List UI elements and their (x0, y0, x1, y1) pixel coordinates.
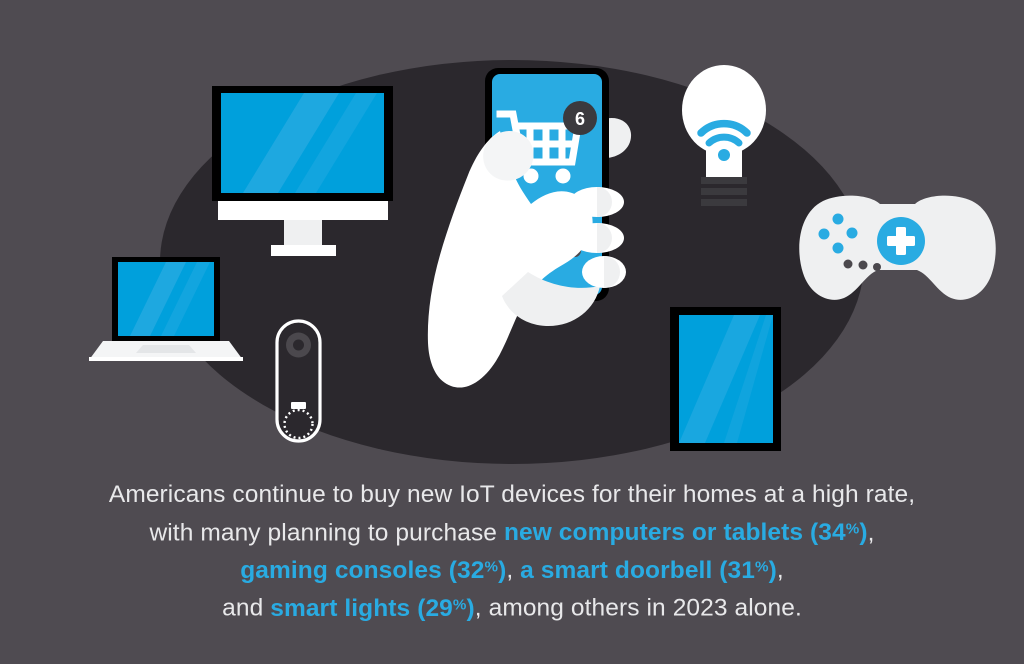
tablet (670, 307, 781, 451)
caption-line-4-post: , among others in 2023 alone. (475, 595, 802, 622)
caption-line-1: Americans continue to buy new IoT device… (0, 478, 1024, 513)
stat-smart-doorbell-text: a smart doorbell (31 (520, 557, 755, 584)
monitor-base (271, 245, 336, 256)
iot-devices-illustration: 6 BUY (0, 0, 1024, 470)
caption-line-2: with many planning to purchase new compu… (0, 513, 1024, 551)
stat-smart-doorbell: a smart doorbell (31%) (520, 557, 777, 584)
caption-line-3-mid: , (506, 557, 520, 584)
caption-line-3-post: , (777, 557, 784, 584)
infographic-canvas: 6 BUY Americans continue to buy new IoT … (0, 0, 1024, 664)
cart-badge-count: 6 (575, 109, 585, 129)
monitor-neck (284, 220, 322, 245)
stat-gaming-consoles-pct: % (484, 558, 498, 575)
stat-smart-lights: smart lights (29%) (270, 595, 475, 622)
caption-line-2-post: , (868, 519, 875, 546)
stat-computers-tablets-tail: ) (859, 519, 867, 546)
bulb-base (701, 177, 747, 184)
stat-gaming-consoles-text: gaming consoles (32 (240, 557, 484, 584)
laptop-trackpad (136, 345, 196, 353)
doorbell-indicator (291, 402, 306, 409)
stat-smart-doorbell-pct: % (755, 558, 769, 575)
game-controller (799, 196, 995, 300)
stat-smart-lights-tail: ) (467, 595, 475, 622)
smart-doorbell (277, 321, 320, 441)
stat-computers-tablets-pct: % (846, 521, 860, 538)
stat-smart-doorbell-tail: ) (769, 557, 777, 584)
caption-line-1-text: Americans continue to buy new IoT device… (109, 481, 915, 508)
stat-gaming-consoles: gaming consoles (32%) (240, 557, 506, 584)
cart-wheel (556, 169, 571, 184)
caption-line-2-pre: with many planning to purchase (149, 519, 503, 546)
monitor-chin (218, 201, 388, 220)
stat-computers-tablets-text: new computers or tablets (34 (504, 519, 846, 546)
stat-smart-lights-text: smart lights (29 (270, 595, 453, 622)
caption-line-4-pre: and (222, 595, 270, 622)
stat-smart-lights-pct: % (453, 596, 467, 613)
caption-line-4: and smart lights (29%), among others in … (0, 588, 1024, 626)
caption-line-3: gaming consoles (32%), a smart doorbell … (0, 550, 1024, 588)
stat-computers-tablets: new computers or tablets (34%) (504, 519, 868, 546)
caption-text: Americans continue to buy new IoT device… (0, 478, 1024, 626)
laptop (89, 257, 243, 361)
